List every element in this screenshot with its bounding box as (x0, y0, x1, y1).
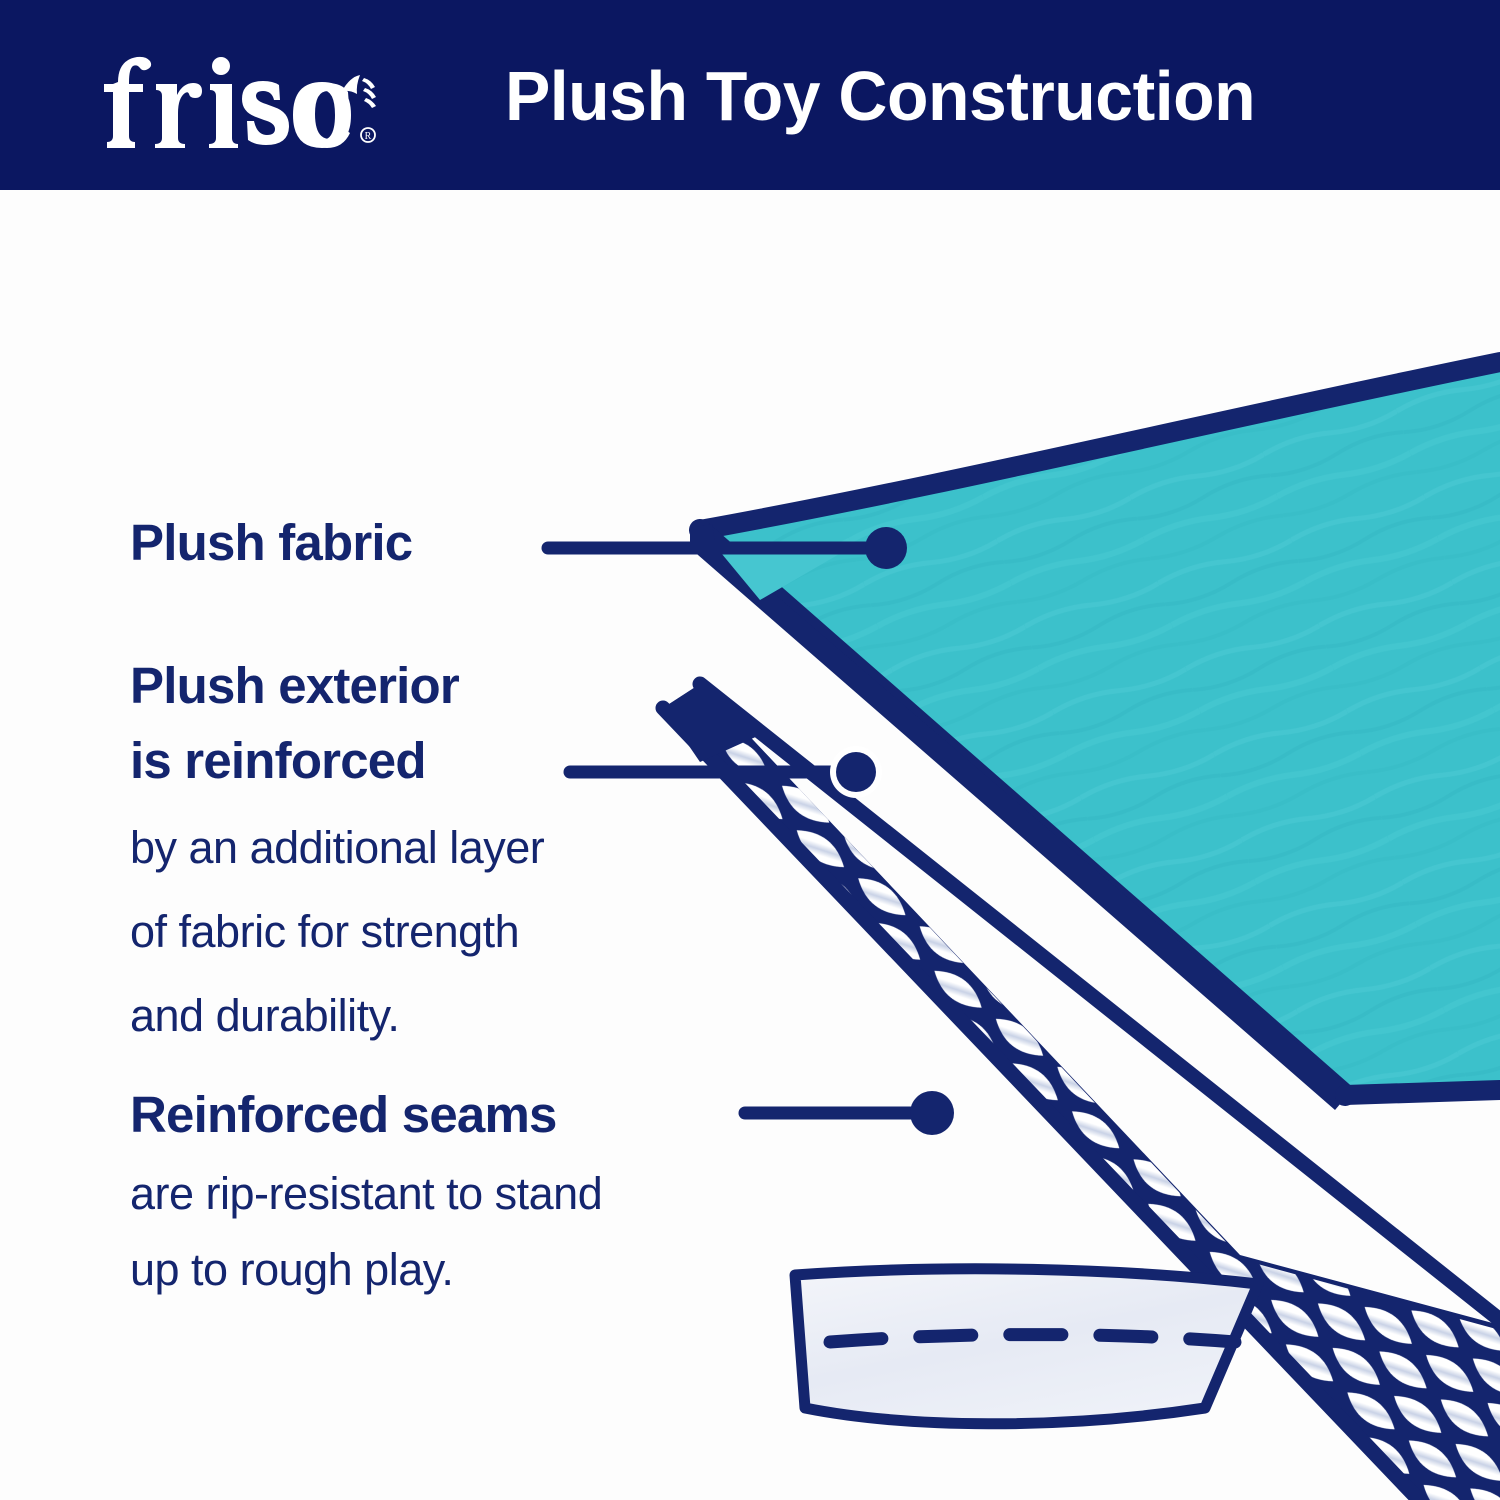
frisco-logo: R (84, 44, 384, 148)
callout-plush-fabric-heading: Plush fabric (130, 505, 412, 580)
leader-dot-plush-fabric (865, 527, 907, 569)
callout-reinforced-seams-heading: Reinforced seams (130, 1077, 602, 1152)
callout-plush-exterior-body-line-3: and durability. (130, 982, 544, 1050)
callout-plush-exterior-body-line-2: of fabric for strength (130, 898, 544, 966)
callout-reinforced-seams: Reinforced seams are rip-resistant to st… (130, 1077, 602, 1304)
callout-plush-exterior: Plush exterior is reinforced by an addit… (130, 648, 544, 1050)
registered-trademark-icon: R (361, 128, 375, 142)
leader-dot-reinforced-seams (910, 1091, 954, 1135)
callout-plush-exterior-body-line-1: by an additional layer (130, 814, 544, 882)
callout-plush-exterior-heading-line-2: is reinforced (130, 723, 544, 798)
callout-plush-exterior-heading-line-1: Plush exterior (130, 648, 544, 723)
leader-reinforced-seams (745, 1091, 954, 1135)
svg-text:R: R (365, 131, 372, 142)
infographic-page: R Plush Toy Construction (0, 0, 1500, 1500)
callout-reinforced-seams-body-line-1: are rip-resistant to stand (130, 1160, 602, 1228)
callout-reinforced-seams-body-line-2: up to rough play. (130, 1236, 602, 1304)
leader-dot-plush-exterior (836, 752, 876, 792)
seam-flap-layer (795, 1269, 1258, 1424)
header-bar: R Plush Toy Construction (0, 0, 1500, 190)
callout-plush-fabric: Plush fabric (130, 505, 412, 580)
page-title: Plush Toy Construction (505, 48, 1255, 144)
